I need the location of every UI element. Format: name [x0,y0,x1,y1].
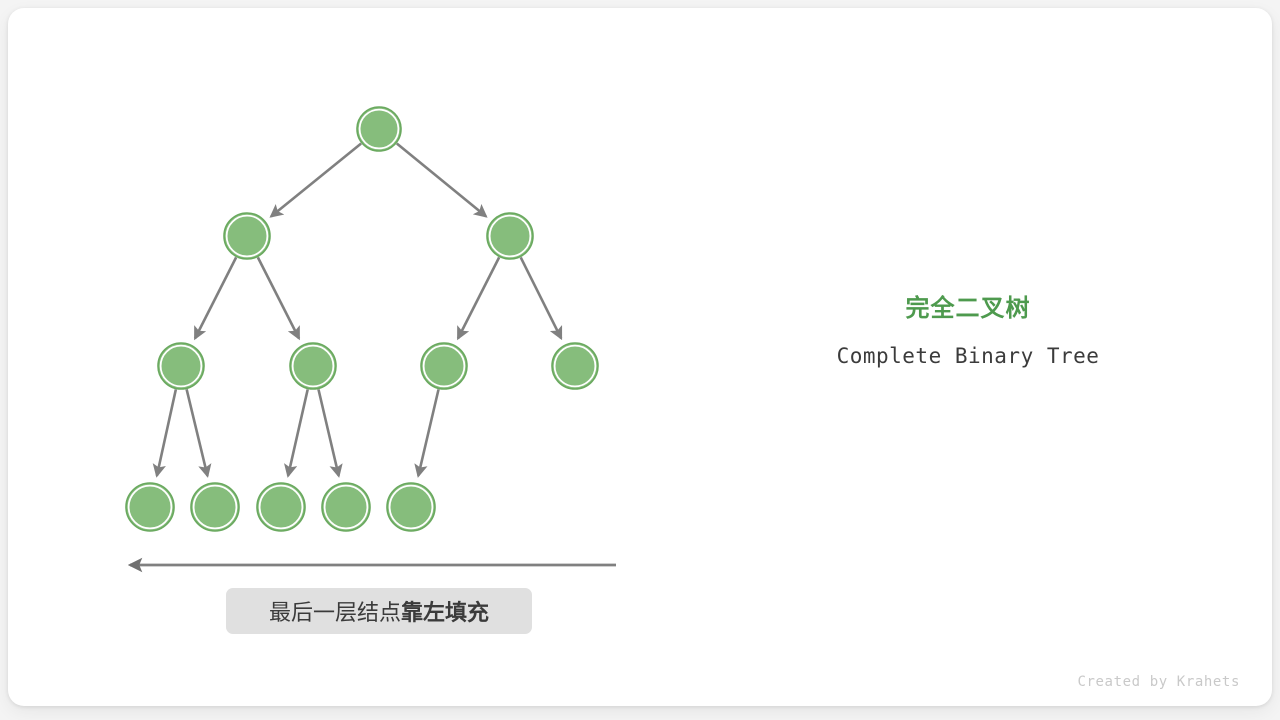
watermark: Created by Krahets [900,674,1240,690]
tree-node [357,107,401,151]
tree-node-outer-ring [257,483,305,531]
tree-node-outer-ring [552,343,598,389]
caption-block: 完全二叉树 Complete Binary Tree [768,292,1168,368]
tree-node [387,483,435,531]
tree-node [191,483,239,531]
note-badge: 最后一层结点靠左填充 [226,588,532,634]
tree-edge [195,257,236,338]
tree-node-outer-ring [158,343,204,389]
tree-node [322,483,370,531]
tree-edge [271,143,361,216]
tree-edge [521,257,561,338]
tree-node-outer-ring [487,213,533,259]
tree-node-outer-ring [387,483,435,531]
tree-node [552,343,598,389]
tree-edge [157,389,176,475]
tree-node-outer-ring [322,483,370,531]
tree-edge [288,389,308,475]
tree-node-outer-ring [421,343,467,389]
page-subtitle: Complete Binary Tree [768,344,1168,368]
tree-node [487,213,533,259]
tree-edge [258,257,299,338]
tree-node-outer-ring [191,483,239,531]
tree-node-outer-ring [357,107,401,151]
tree-edge [397,144,486,217]
screenshot-root: 完全二叉树 Complete Binary Tree 最后一层结点靠左填充 Cr… [0,0,1280,720]
tree-node [257,483,305,531]
tree-edge [418,389,438,475]
tree-node [158,343,204,389]
tree-edge [318,389,338,475]
tree-edge [187,389,208,476]
tree-edges [157,143,561,475]
tree-node [421,343,467,389]
tree-node-outer-ring [290,343,336,389]
tree-edge [458,257,499,338]
tree-node [126,483,174,531]
tree-node-outer-ring [224,213,270,259]
page-title: 完全二叉树 [768,292,1168,326]
tree-node [224,213,270,259]
note-text-bold: 靠左填充 [401,595,489,627]
tree-nodes [126,107,598,531]
tree-node [290,343,336,389]
note-text-normal: 最后一层结点 [269,595,401,627]
tree-node-outer-ring [126,483,174,531]
